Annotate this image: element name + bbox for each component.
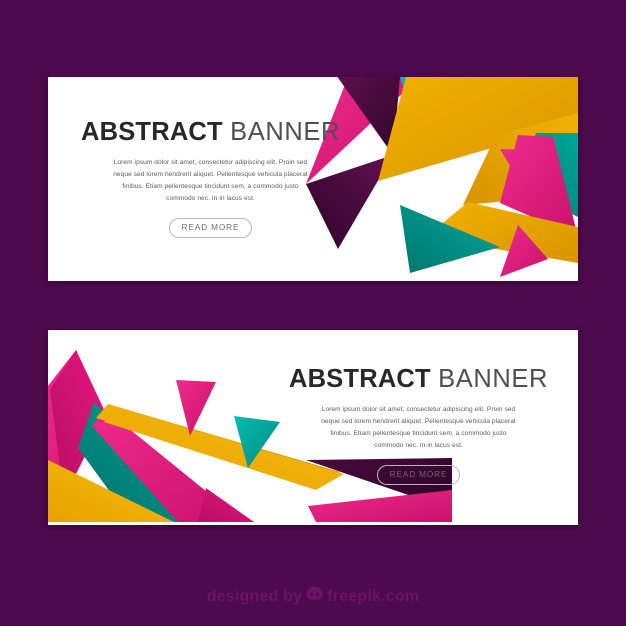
footer-prefix: designed by [207, 588, 303, 605]
footer-suffix: freepik.com [327, 588, 419, 605]
footer-credit: designed byfreepik.com [0, 586, 626, 608]
banner-card-bottom[interactable]: ABSTRACT BANNER Lorem ipsum dolor sit am… [48, 330, 578, 525]
headline-light: BANNER [230, 118, 340, 146]
page-title: ABSTRACT BANNER [276, 366, 561, 393]
banner-body-text: Lorem ipsum dolor sit amet, consectetur … [108, 157, 313, 205]
headline-bold: ABSTRACT [81, 118, 223, 146]
headline-bold: ABSTRACT [289, 365, 431, 393]
read-more-button[interactable]: READ MORE [377, 465, 461, 485]
freepik-smiley-logo-icon [306, 586, 323, 608]
banner-card-top[interactable]: ABSTRACT BANNER Lorem ipsum dolor sit am… [48, 77, 578, 281]
poster-canvas: ABSTRACT BANNER Lorem ipsum dolor sit am… [0, 0, 626, 626]
page-title: ABSTRACT BANNER [68, 119, 353, 146]
banner-body-text: Lorem ipsum dolor sit amet, consectetur … [316, 404, 521, 452]
headline-light: BANNER [438, 365, 548, 393]
banner-text-block-bottom: ABSTRACT BANNER Lorem ipsum dolor sit am… [276, 366, 561, 485]
read-more-button[interactable]: READ MORE [169, 218, 253, 238]
banner-text-block-top: ABSTRACT BANNER Lorem ipsum dolor sit am… [68, 119, 353, 238]
